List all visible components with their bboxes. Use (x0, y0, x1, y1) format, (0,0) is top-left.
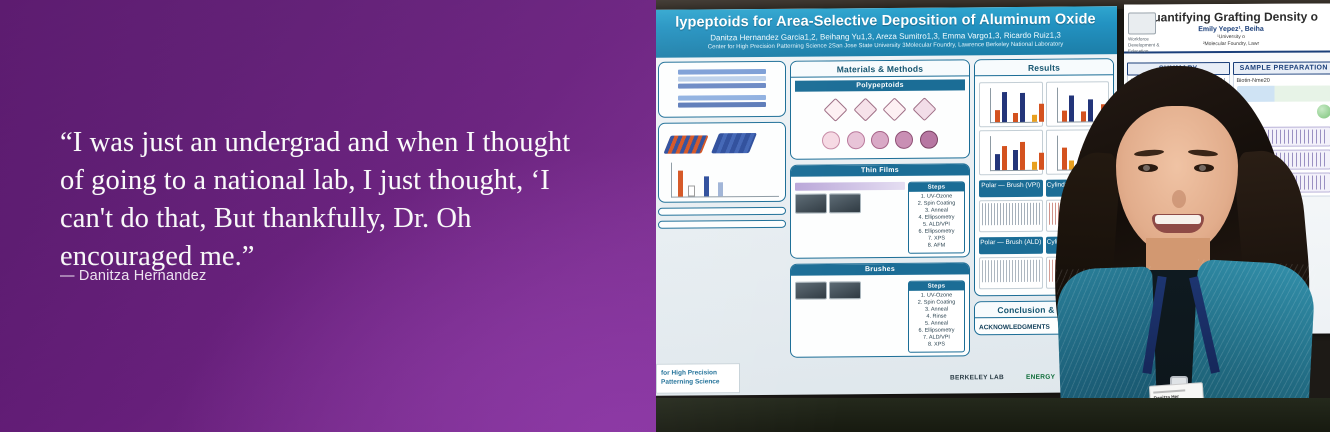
steps-header-brushes: Steps (909, 281, 964, 290)
step-item: 8. AFM (909, 242, 964, 249)
floor-strip (656, 398, 1330, 432)
section-header-materials-methods: Materials & Methods (791, 60, 969, 77)
chart-caption-1: Polar — Brush (VPI) (979, 180, 1043, 197)
quote-attribution: — Danitza Hernandez (60, 268, 206, 284)
poster-column-middle: Materials & Methods Polypeptoids (790, 59, 970, 362)
thin-films-steps: Steps 1. UV-Ozone 2. Spin Coating 3. Ann… (908, 181, 965, 253)
poster-section-intro-a (658, 61, 786, 118)
chipps-footer-badge: for High Precision Patterning Science (656, 363, 740, 394)
steps-header-thin-films: Steps (909, 182, 964, 191)
teeth (1155, 215, 1201, 224)
intro-mini-bar-chart (671, 162, 779, 198)
brushes-steps: Steps 1. UV-Ozone 2. Spin Coating 3. Ann… (908, 280, 965, 352)
results-bar-chart-3 (979, 130, 1043, 175)
results-spectrum-3 (979, 257, 1043, 289)
poster-section-brushes: Brushes Steps (790, 262, 970, 357)
berkeley-lab-logo: BERKELEY LAB (950, 374, 1004, 381)
pull-quote: “I was just an undergrad and when I thou… (60, 124, 600, 276)
poster-section-references (658, 220, 786, 229)
results-spectrum-1 (979, 200, 1043, 232)
person-figure: Danitza Her (1054, 62, 1304, 432)
wde-label: Workforce Development & Education (1128, 36, 1159, 53)
green-particle-icon (1317, 104, 1330, 118)
eyebrow-left (1134, 149, 1164, 158)
photo-region: lypeptoids for Area-Selective Deposition… (656, 0, 1330, 432)
poster-column-left (658, 61, 786, 234)
poster-section-intro-c (658, 207, 786, 216)
wde-logo-block: Workforce Development & Education (1128, 12, 1170, 54)
second-poster-title-block: Workforce Development & Education Quanti… (1124, 3, 1330, 53)
mouth-smiling (1152, 214, 1204, 233)
story-banner: “I was just an undergrad and when I thou… (0, 0, 1330, 432)
eyebrow-right (1188, 149, 1218, 158)
eye-left (1138, 164, 1158, 172)
energy-logo: ENERGY (1026, 374, 1055, 381)
poster-section-materials-methods: Materials & Methods Polypeptoids (790, 59, 970, 159)
chart-caption-3: Polar — Brush (ALD) (979, 237, 1043, 254)
poster-title-banner: lypeptoids for Area-Selective Deposition… (656, 6, 1117, 58)
poster-title: lypeptoids for Area-Selective Deposition… (656, 11, 1117, 31)
main-poster-board: lypeptoids for Area-Selective Deposition… (656, 6, 1117, 396)
results-bar-chart-1 (979, 82, 1043, 127)
poster-section-intro-b (658, 122, 786, 203)
nose (1172, 190, 1186, 208)
poster-section-thin-films: Thin Films Steps (790, 163, 970, 258)
step-item: 8. XPS (909, 341, 964, 348)
wde-icon (1128, 12, 1156, 34)
poster-affiliations: Center for High Precision Patterning Sci… (656, 41, 1117, 51)
subsection-header-polypeptoids: Polypeptoids (795, 79, 965, 91)
eye-right (1194, 164, 1214, 172)
quote-panel: “I was just an undergrad and when I thou… (0, 0, 656, 432)
